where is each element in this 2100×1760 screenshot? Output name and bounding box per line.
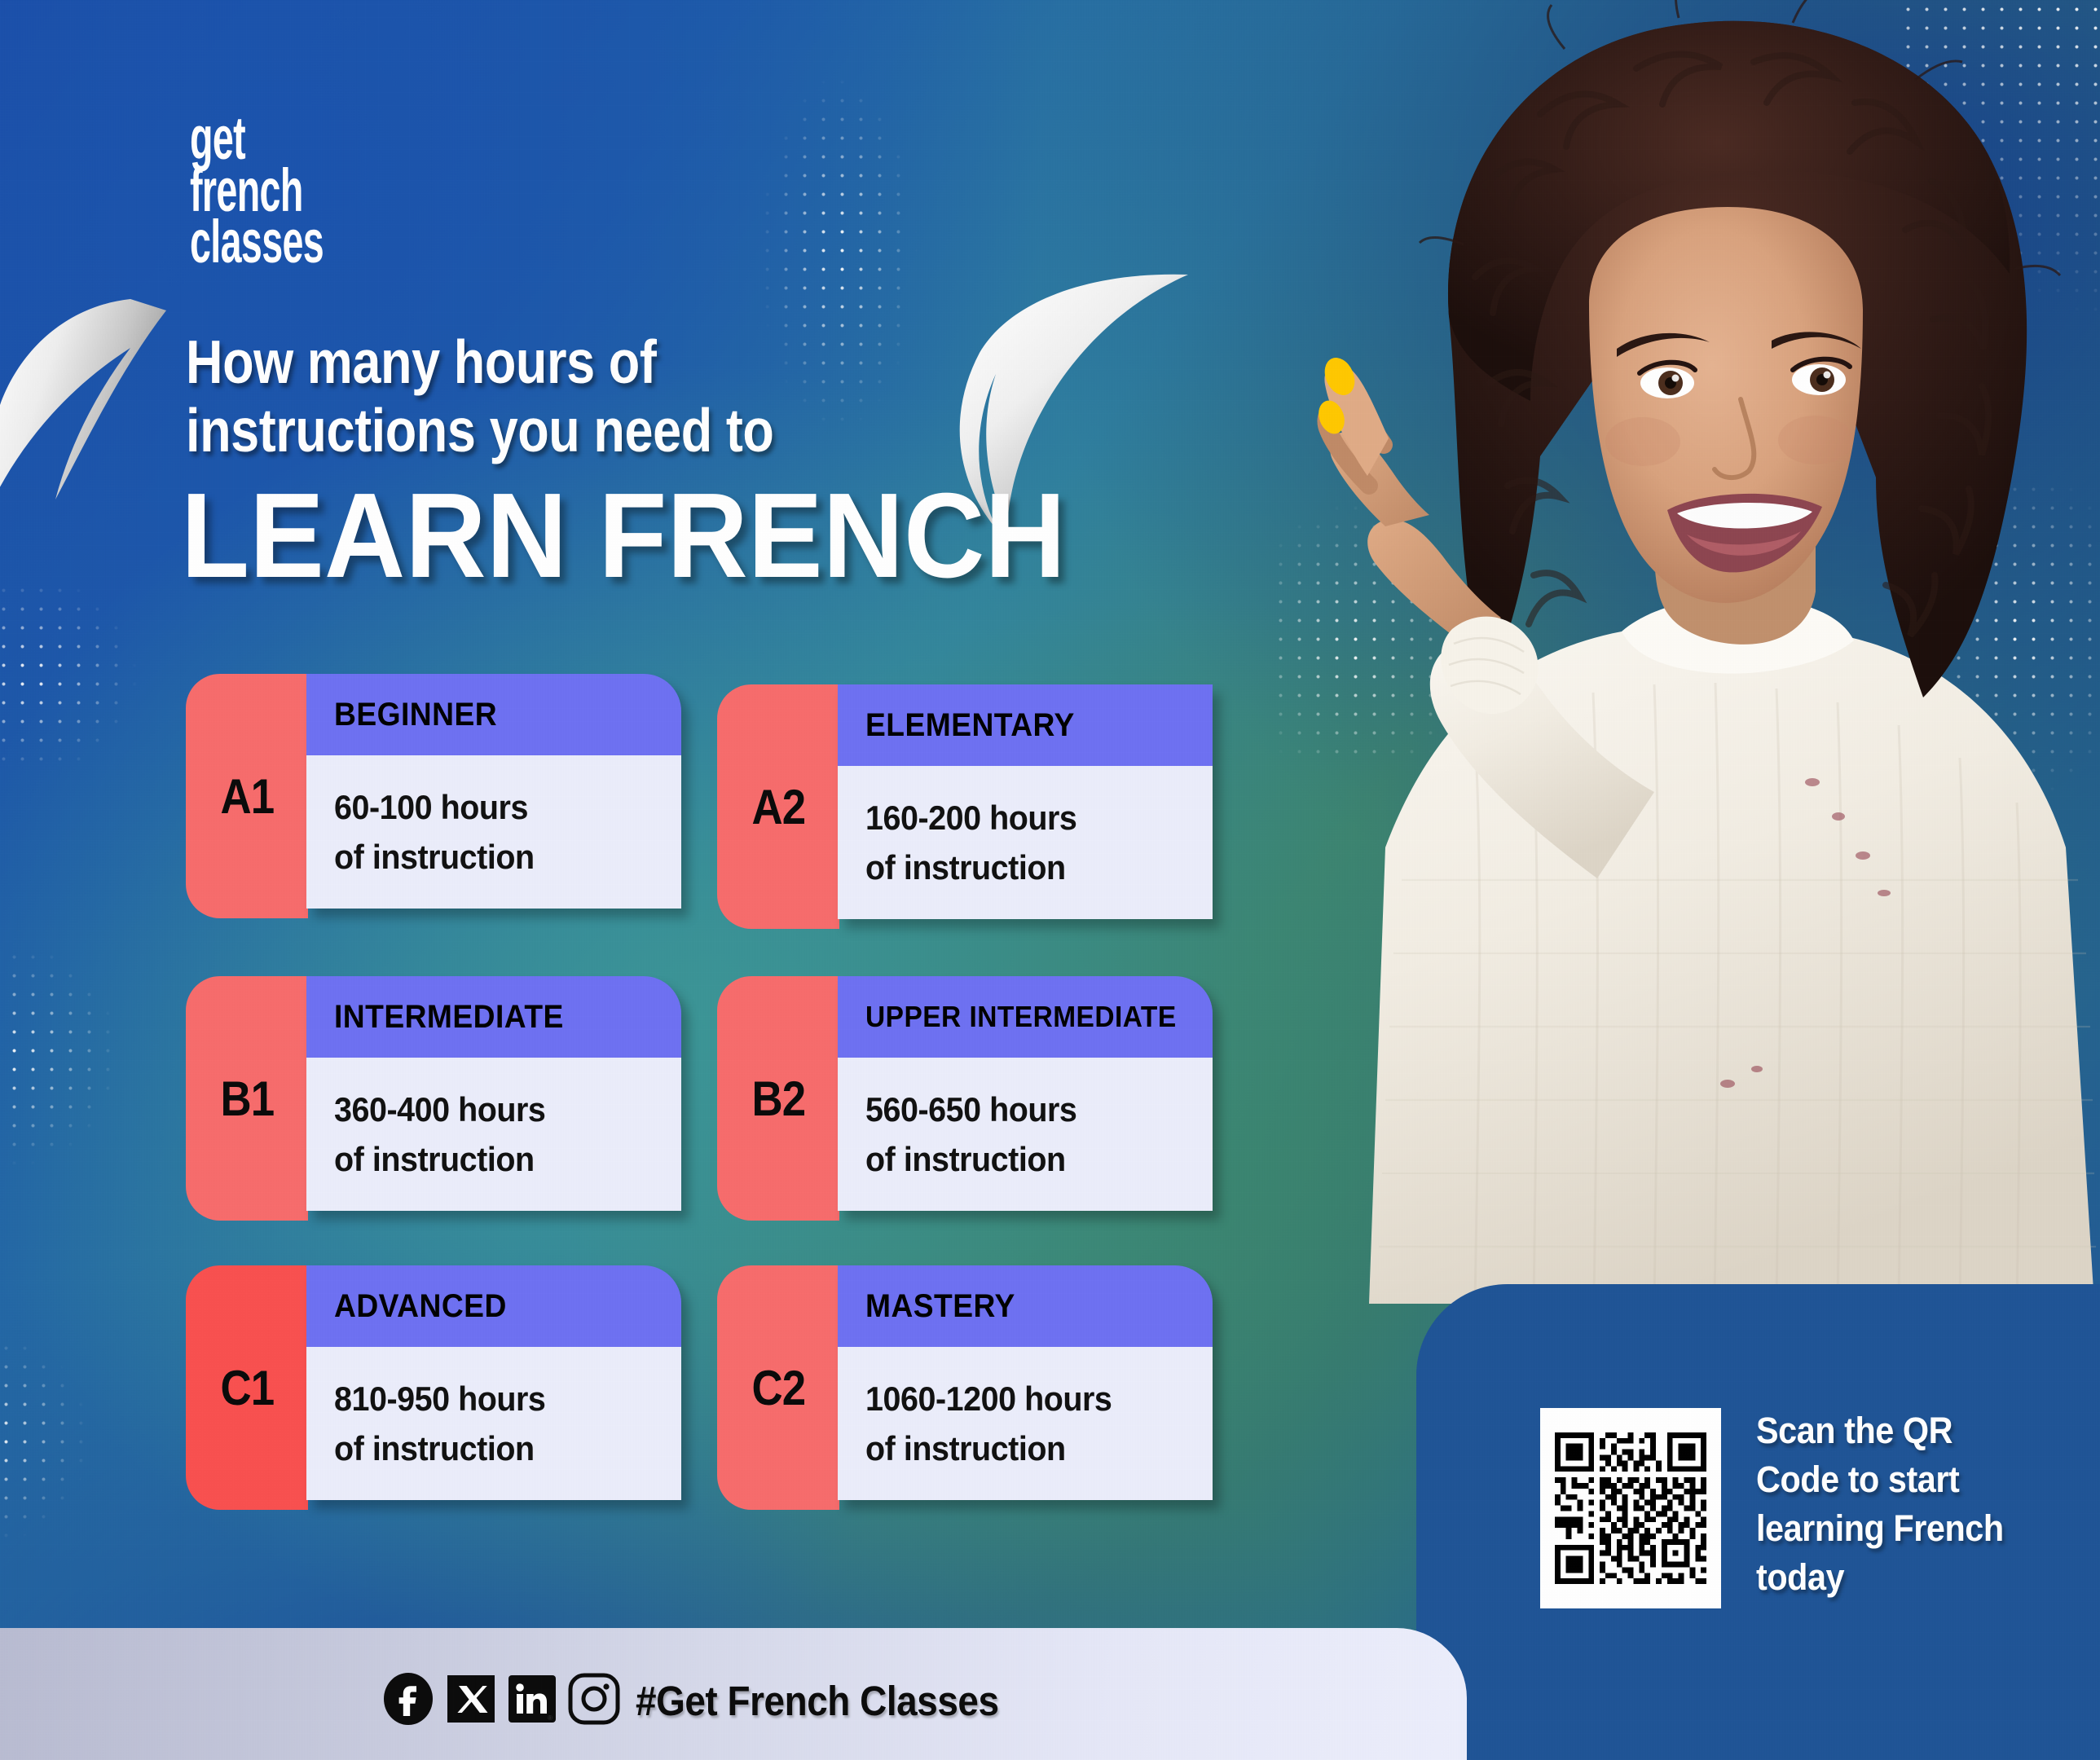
level-card-a2[interactable]: A2 ELEMENTARY 160-200 hours of instructi… bbox=[717, 684, 1213, 929]
level-code-badge: C2 bbox=[717, 1265, 839, 1510]
level-hours-body: 1060-1200 hours of instruction bbox=[838, 1347, 1213, 1500]
level-name-label: UPPER INTERMEDIATE bbox=[865, 1000, 1177, 1034]
level-hours-suffix: of instruction bbox=[334, 1424, 660, 1474]
level-name-label: INTERMEDIATE bbox=[334, 999, 564, 1036]
svg-text:®: ® bbox=[548, 1714, 553, 1722]
linkedin-icon[interactable]: ® bbox=[507, 1674, 557, 1728]
level-code-label: B1 bbox=[220, 1071, 274, 1127]
qr-cta-caption: Scan the QR Code to start learning Frenc… bbox=[1756, 1406, 2071, 1601]
level-hours-value: 360-400 hours bbox=[334, 1085, 660, 1135]
level-code-label: A1 bbox=[220, 768, 274, 825]
x-twitter-icon[interactable] bbox=[446, 1674, 496, 1728]
level-code-label: B2 bbox=[751, 1071, 805, 1127]
level-panel: ELEMENTARY 160-200 hours of instruction bbox=[838, 684, 1213, 919]
level-panel: UPPER INTERMEDIATE 560-650 hours of inst… bbox=[838, 976, 1213, 1211]
level-hours-body: 560-650 hours of instruction bbox=[838, 1058, 1213, 1211]
level-card-c2[interactable]: C2 MASTERY 1060-1200 hours of instructio… bbox=[717, 1265, 1213, 1510]
level-hours-body: 810-950 hours of instruction bbox=[306, 1347, 681, 1500]
level-card-b2[interactable]: B2 UPPER INTERMEDIATE 560-650 hours of i… bbox=[717, 976, 1213, 1221]
level-panel: ADVANCED 810-950 hours of instruction bbox=[306, 1265, 681, 1500]
qr-code-image[interactable] bbox=[1540, 1408, 1721, 1608]
level-hours-suffix: of instruction bbox=[865, 1424, 1191, 1474]
level-code-badge: B2 bbox=[717, 976, 839, 1221]
level-name-label: ADVANCED bbox=[334, 1288, 507, 1325]
level-hours-value: 1060-1200 hours bbox=[865, 1375, 1191, 1424]
level-name-header: MASTERY bbox=[838, 1265, 1213, 1347]
level-hours-suffix: of instruction bbox=[334, 1135, 660, 1185]
level-panel: INTERMEDIATE 360-400 hours of instructio… bbox=[306, 976, 681, 1211]
level-code-label: C2 bbox=[751, 1360, 805, 1416]
level-name-label: MASTERY bbox=[865, 1288, 1015, 1325]
level-hours-body: 160-200 hours of instruction bbox=[838, 766, 1213, 919]
level-name-label: ELEMENTARY bbox=[865, 707, 1075, 744]
level-name-label: BEGINNER bbox=[334, 697, 497, 733]
level-code-badge: A2 bbox=[717, 684, 839, 929]
level-card-c1[interactable]: C1 ADVANCED 810-950 hours of instruction bbox=[186, 1265, 681, 1510]
level-hours-value: 160-200 hours bbox=[865, 794, 1191, 843]
level-code-label: C1 bbox=[220, 1360, 274, 1416]
level-name-header: UPPER INTERMEDIATE bbox=[838, 976, 1213, 1058]
level-hours-value: 560-650 hours bbox=[865, 1085, 1191, 1135]
level-name-header: ADVANCED bbox=[306, 1265, 681, 1347]
level-name-header: INTERMEDIATE bbox=[306, 976, 681, 1058]
level-panel: BEGINNER 60-100 hours of instruction bbox=[306, 674, 681, 909]
level-code-badge: A1 bbox=[186, 674, 308, 918]
level-hours-body: 60-100 hours of instruction bbox=[306, 755, 681, 909]
level-hours-suffix: of instruction bbox=[865, 843, 1191, 893]
level-hours-body: 360-400 hours of instruction bbox=[306, 1058, 681, 1211]
level-code-label: A2 bbox=[751, 779, 805, 835]
level-hours-value: 810-950 hours bbox=[334, 1375, 660, 1424]
level-name-header: BEGINNER bbox=[306, 674, 681, 755]
level-hours-suffix: of instruction bbox=[865, 1135, 1191, 1185]
facebook-icon[interactable] bbox=[381, 1672, 435, 1730]
level-hours-value: 60-100 hours bbox=[334, 783, 660, 833]
poster-canvas: get french classes How many hours of ins… bbox=[0, 0, 2100, 1760]
instagram-icon[interactable] bbox=[568, 1673, 620, 1729]
level-card-b1[interactable]: B1 INTERMEDIATE 360-400 hours of instruc… bbox=[186, 976, 681, 1221]
social-links: ® #Get French Classes bbox=[381, 1672, 1039, 1730]
level-name-header: ELEMENTARY bbox=[838, 684, 1213, 766]
level-code-badge: B1 bbox=[186, 976, 308, 1221]
level-card-a1[interactable]: A1 BEGINNER 60-100 hours of instruction bbox=[186, 674, 681, 918]
level-hours-suffix: of instruction bbox=[334, 833, 660, 882]
level-panel: MASTERY 1060-1200 hours of instruction bbox=[838, 1265, 1213, 1500]
level-code-badge: C1 bbox=[186, 1265, 308, 1510]
hashtag-label: #Get French Classes bbox=[636, 1677, 999, 1725]
